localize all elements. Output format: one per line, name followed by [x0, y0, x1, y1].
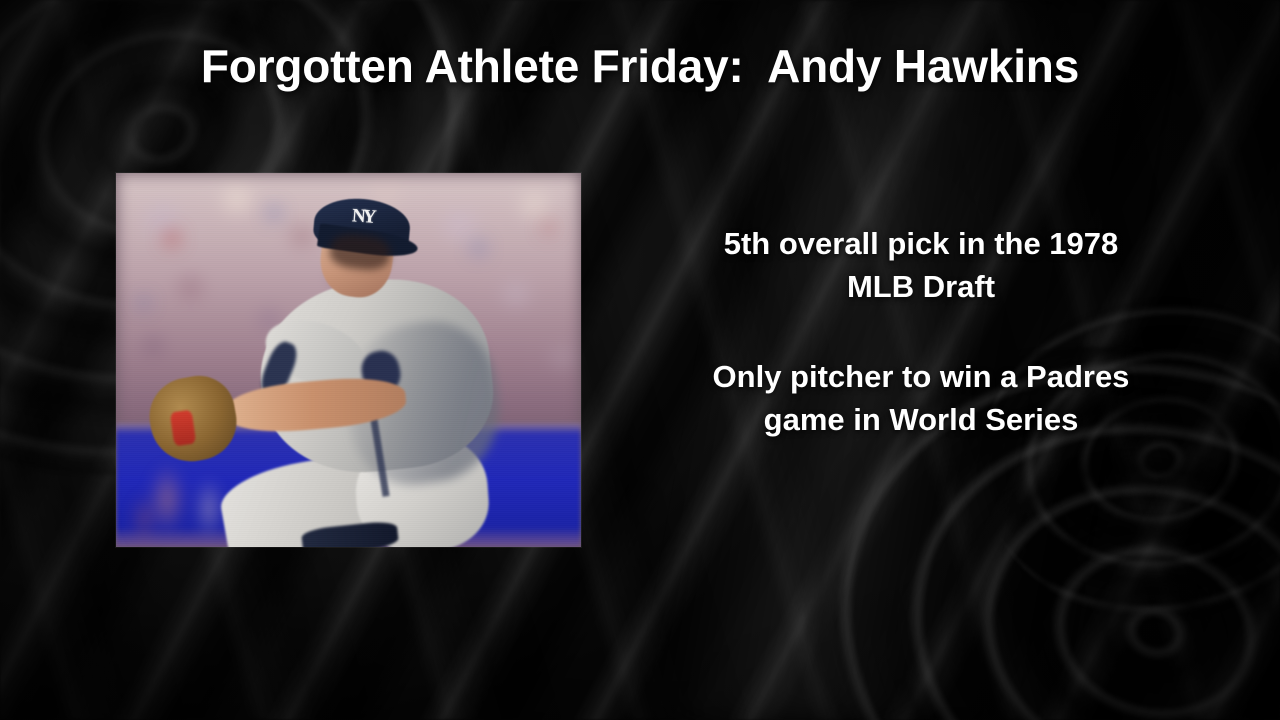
- bullet-line-3: Only pitcher to win a Padres: [640, 355, 1202, 398]
- athlete-photo: NY: [116, 173, 581, 547]
- presentation-slide: Forgotten Athlete Friday: Andy Hawkins N…: [0, 0, 1280, 720]
- slide-title: Forgotten Athlete Friday: Andy Hawkins: [0, 40, 1280, 93]
- bullet-line-1: 5th overall pick in the 1978: [640, 222, 1202, 265]
- photo-film-grain: [116, 173, 581, 547]
- paragraph-spacer: [640, 309, 1202, 355]
- bullet-line-2: MLB Draft: [640, 265, 1202, 308]
- bullet-line-4: game in World Series: [640, 398, 1202, 441]
- slide-body-text: 5th overall pick in the 1978 MLB Draft O…: [640, 222, 1202, 442]
